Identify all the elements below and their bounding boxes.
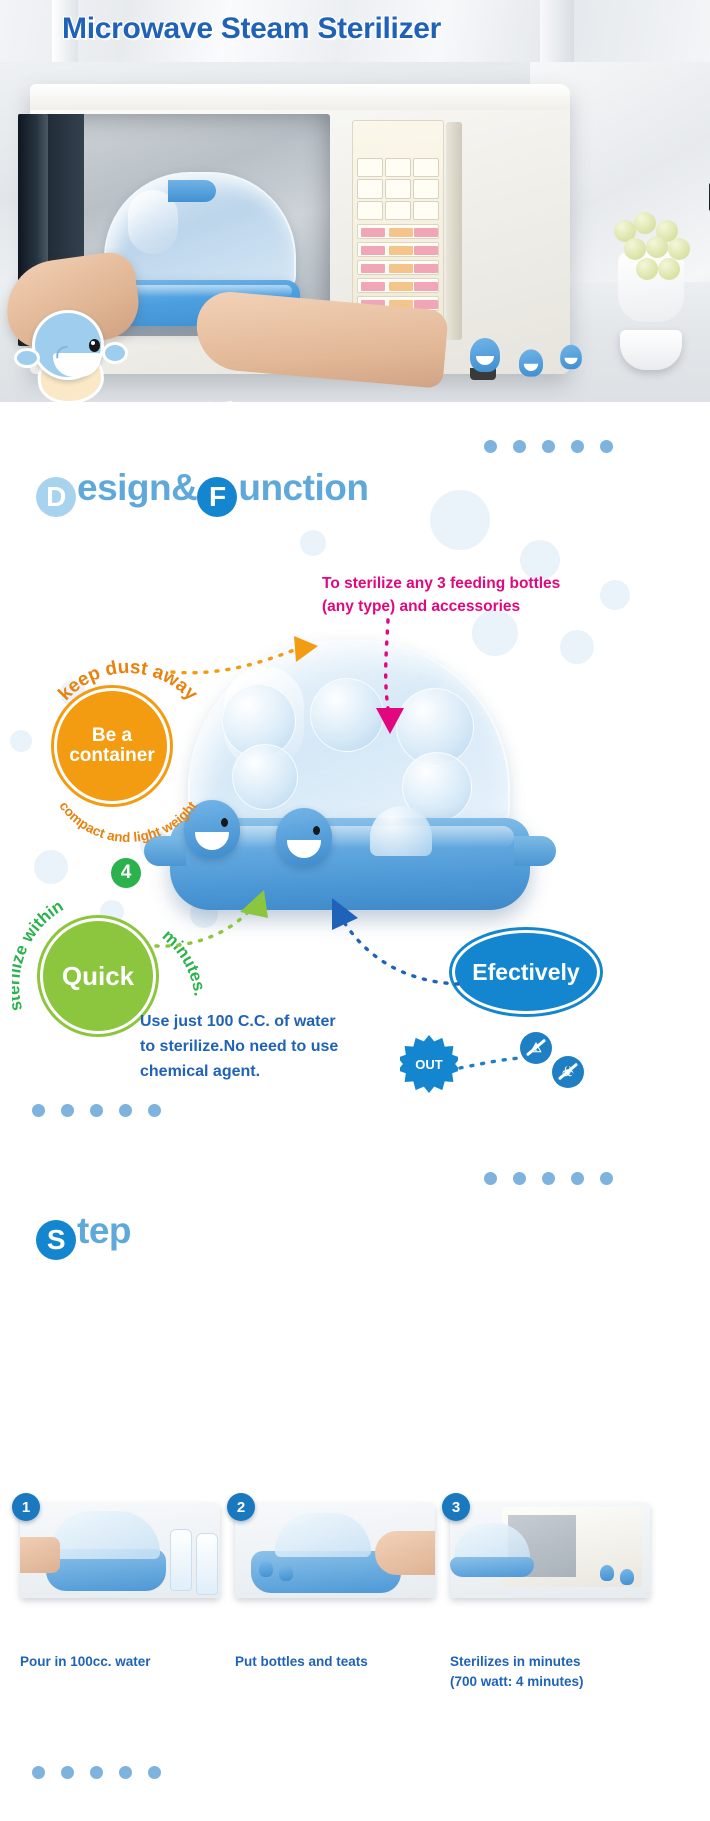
badge-orange-line1: Be a: [92, 725, 132, 746]
dot-separator-step-top: [484, 1172, 613, 1185]
mascot-fin-left: [14, 348, 40, 368]
step-caption-line: (700 watt: 4 minutes): [450, 1672, 650, 1692]
microwave-label-row: [357, 224, 439, 239]
blue-note-line1: Use just 100 C.C. of water: [140, 1010, 400, 1035]
design-function-heading: Design&Function: [36, 467, 368, 517]
badge-efectively: Efectively: [452, 930, 600, 1014]
dot-separator-mid: [32, 1104, 161, 1117]
step-number-badge: 1: [12, 1493, 40, 1521]
step-caption-2: Put bottles and teats: [235, 1652, 435, 1672]
step-heading: Step: [36, 1210, 131, 1260]
dot: [484, 1172, 497, 1185]
grapes: [614, 212, 700, 300]
step-caption-3: Sterilizes in minutes (700 watt: 4 minut…: [450, 1652, 650, 1691]
svg-text:compact and light weight: compact and light weight: [56, 798, 200, 845]
tray: [450, 1557, 534, 1577]
microwave-top-edge: [30, 84, 570, 110]
badge-be-a-container: Be a container: [54, 688, 170, 804]
hand: [375, 1531, 435, 1575]
heading-text-step: tep: [77, 1210, 131, 1251]
whale-teat-holder-icon: [279, 1565, 293, 1581]
step-number-badge: 2: [227, 1493, 255, 1521]
mascot-eye: [89, 339, 100, 352]
badge-blue-label: Efectively: [472, 959, 579, 986]
step-photo-3: [450, 1503, 650, 1598]
dot: [513, 440, 526, 453]
dot: [61, 1104, 74, 1117]
dot: [571, 1172, 584, 1185]
step-item-2: 2 Put bottles and teats: [235, 1503, 435, 1672]
out-badge-label: OUT: [400, 1035, 458, 1093]
step-caption-1: Pour in 100cc. water: [20, 1652, 220, 1672]
page-header: Microwave Steam Sterilizer: [0, 0, 710, 62]
step-caption-line: Sterilizes in minutes: [450, 1652, 650, 1672]
heading-letter-d: D: [36, 477, 76, 517]
blue-note-line3: chemical agent.: [140, 1060, 400, 1085]
step-photo-2: [235, 1503, 435, 1598]
step-caption-line: Pour in 100cc. water: [20, 1652, 220, 1672]
dot: [90, 1766, 103, 1779]
dot: [600, 440, 613, 453]
dot: [32, 1766, 45, 1779]
dot: [571, 440, 584, 453]
dot: [119, 1104, 132, 1117]
pink-note-line1: To sterilize any 3 feeding bottles: [322, 572, 612, 595]
blue-connector-arrow: [290, 870, 470, 1000]
step-item-1: 1 Pour in 100cc. water: [20, 1503, 220, 1672]
hero-photo: Antisepticizing helper: [0, 62, 710, 402]
dot: [32, 1104, 45, 1117]
microwave-label-row: [357, 278, 439, 293]
product-handle-right: [514, 836, 556, 866]
sterilizer-handle: [168, 180, 216, 202]
dot-separator-top: [484, 440, 613, 453]
whale-toy-icon: [470, 338, 500, 372]
step-list: 1 Pour in 100cc. water 2 Put: [20, 1503, 690, 1713]
bottle-top: [232, 744, 298, 810]
no-chemical-icon: ⚠: [520, 1032, 552, 1064]
pink-connector-arrow: [352, 616, 442, 796]
dot: [513, 1172, 526, 1185]
whale-teat-holder-icon: [600, 1565, 614, 1581]
dome-lid: [50, 1511, 160, 1559]
dot: [148, 1104, 161, 1117]
pink-annotation: To sterilize any 3 feeding bottles (any …: [322, 572, 612, 619]
badge-orange-line2: container: [69, 745, 155, 766]
dot: [542, 1172, 555, 1185]
blue-note-line2: to sterilize.No need to use: [140, 1035, 400, 1060]
step-item-3: 3 Sterilizes in minutes (700 watt: 4 min…: [450, 1503, 650, 1691]
dot-separator-bottom: [32, 1766, 161, 1779]
out-badge: OUT: [400, 1035, 458, 1093]
badge-number-4: 4: [111, 858, 141, 888]
whale-toy-icon: [560, 345, 582, 369]
step-number-badge: 3: [442, 1493, 470, 1521]
feeding-bottle: [196, 1533, 218, 1595]
page-title: Microwave Steam Sterilizer: [62, 12, 622, 46]
pink-note-line2: (any type) and accessories: [322, 595, 612, 618]
mascot-body: [32, 310, 104, 380]
dome-lid: [275, 1513, 371, 1557]
whale-toy-icon: [519, 349, 543, 376]
microwave-label-row: [357, 242, 439, 257]
heading-letter-f: F: [197, 477, 237, 517]
feeding-bottle: [170, 1529, 192, 1591]
dot: [119, 1766, 132, 1779]
whale-teat-holder-icon: [276, 808, 332, 866]
green-connector-arrow: [150, 868, 290, 978]
out-dot-trail: [458, 1048, 528, 1084]
dot: [484, 440, 497, 453]
mascot-fin-right: [102, 342, 128, 364]
badge-green-label: Quick: [62, 961, 134, 992]
microwave-keypad: [357, 158, 439, 220]
heading-letter-s: S: [36, 1220, 76, 1260]
blue-annotation: Use just 100 C.C. of water to sterilize.…: [140, 1010, 400, 1084]
microwave-handle: [446, 122, 462, 340]
heading-text-2: unction: [238, 467, 368, 508]
dot: [61, 1766, 74, 1779]
dot: [148, 1766, 161, 1779]
no-bacteria-icon: ☣: [552, 1056, 584, 1088]
dot: [90, 1104, 103, 1117]
microwave-label-row: [357, 260, 439, 275]
heading-text-1: esign&: [77, 467, 197, 508]
orange-connector-arrow: [168, 630, 368, 720]
dot: [600, 1172, 613, 1185]
whale-teat-holder-icon: [259, 1561, 273, 1577]
step-photo-1: [20, 1503, 220, 1598]
pouring-hand: [20, 1537, 60, 1573]
whale-teat-holder-icon: [620, 1569, 634, 1585]
badge-quick-circle: Quick: [40, 918, 156, 1034]
dot: [542, 440, 555, 453]
step-caption-line: Put bottles and teats: [235, 1652, 435, 1672]
whale-mascot-icon: [22, 308, 118, 400]
product-page: Microwave Steam Sterilizer: [0, 0, 710, 1821]
